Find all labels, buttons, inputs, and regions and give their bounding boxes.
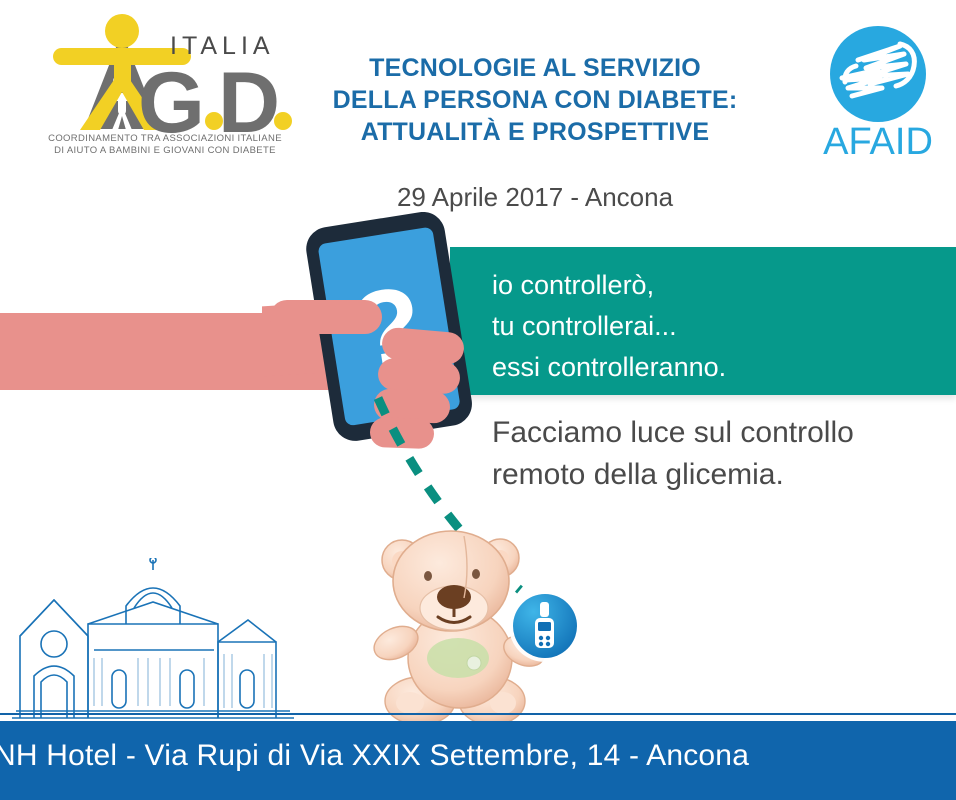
cathedral-graphic <box>8 558 298 723</box>
agd-subtitle-line-1: COORDINAMENTO TRA ASSOCIAZIONI ITALIANE <box>40 133 290 145</box>
agd-italia-logo: ITALIA G D COORDINAMENTO TRA ASSOCIAZION… <box>18 4 298 164</box>
sensor-patch <box>427 638 489 678</box>
footer-venue-text: NH Hotel - Via Rupi di Via XXIX Settembr… <box>0 739 749 773</box>
page-title: TECNOLOGIE AL SERVIZIO DELLA PERSONA CON… <box>300 52 770 148</box>
title-line-3: ATTUALITÀ E PROSPETTIVE <box>300 116 770 148</box>
event-date-location: 29 Aprile 2017 - Ancona <box>300 182 770 213</box>
ancona-cathedral-illustration <box>8 558 298 723</box>
title-line-1: TECNOLOGIE AL SERVIZIO <box>300 52 770 84</box>
agd-subtitle-line-2: DI AIUTO A BAMBINI E GIOVANI CON DIABETE <box>40 145 290 157</box>
title-line-2: DELLA PERSONA CON DIABETE: <box>300 84 770 116</box>
slogan-line-1: io controllerò, <box>492 265 726 306</box>
afaid-logo: AFAID <box>812 22 944 162</box>
footer-divider-rule <box>0 713 956 715</box>
footer-venue-bar: NH Hotel - Via Rupi di Via XXIX Settembr… <box>0 721 956 800</box>
afaid-wordmark: AFAID <box>823 121 933 162</box>
green-banner-text: io controllerò, tu controllerai... essi … <box>492 265 726 388</box>
event-poster: ITALIA G D COORDINAMENTO TRA ASSOCIAZION… <box>0 0 956 800</box>
slogan-line-3: essi controlleranno. <box>492 347 726 388</box>
glucose-badge-graphic <box>507 588 583 664</box>
green-slogan-banner: io controllerò, tu controllerai... essi … <box>450 247 956 395</box>
afaid-logo-graphic: AFAID <box>812 22 944 162</box>
thumb <box>270 300 382 334</box>
glucose-meter-badge <box>507 588 583 664</box>
agd-logo-subtitle: COORDINAMENTO TRA ASSOCIAZIONI ITALIANE … <box>40 133 290 157</box>
slogan-line-2: tu controllerai... <box>492 306 726 347</box>
